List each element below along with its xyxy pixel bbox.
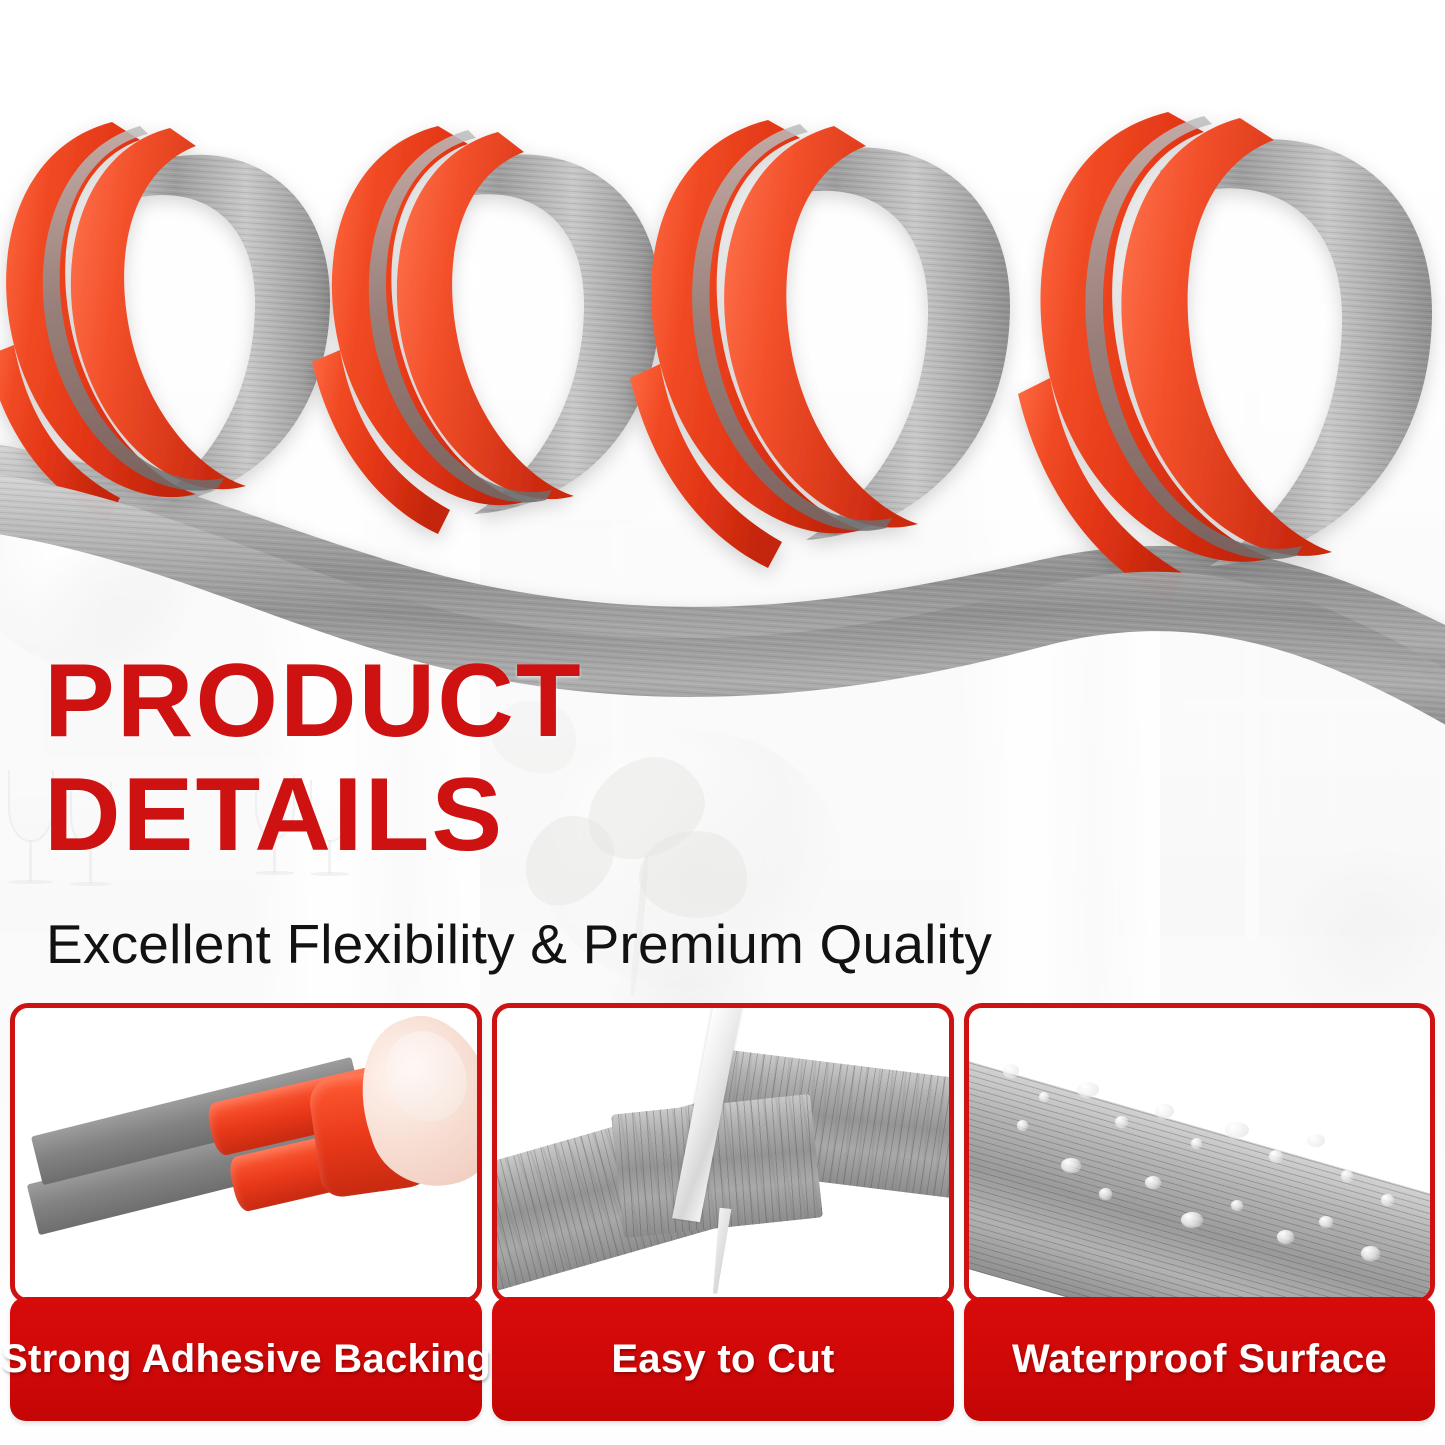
- water-droplet: [1361, 1246, 1380, 1260]
- water-droplet: [1115, 1116, 1128, 1127]
- feature-caption-label-3: Waterproof Surface: [1012, 1337, 1387, 1382]
- water-droplet: [1155, 1104, 1174, 1118]
- page-subtitle: Excellent Flexibility & Premium Quality: [46, 912, 992, 976]
- weatherstrip-diagonal: [969, 1044, 1430, 1298]
- page-title-line-1: PRODUCT: [44, 652, 1217, 752]
- water-droplet: [1099, 1188, 1112, 1199]
- water-droplet: [1277, 1230, 1294, 1243]
- adhesive-liner-peel-photo: [15, 1008, 477, 1298]
- feature-photo-frame-1: [10, 1003, 482, 1303]
- water-droplet: [1191, 1138, 1202, 1148]
- water-droplet: [1225, 1122, 1249, 1138]
- feature-panel-waterproof-surface[interactable]: Waterproof Surface: [964, 1003, 1435, 1421]
- water-droplet: [1077, 1082, 1099, 1097]
- feature-caption-bar-1: Strong Adhesive Backing: [10, 1297, 482, 1421]
- feature-caption-label-1: Strong Adhesive Backing: [1, 1337, 491, 1382]
- water-droplet: [1381, 1194, 1394, 1205]
- water-droplet: [1307, 1134, 1325, 1147]
- page-title-line-2: DETAILS: [44, 766, 1217, 866]
- headline-block: PRODUCT DETAILS: [44, 652, 1194, 866]
- feature-photo-frame-2: [492, 1003, 954, 1303]
- water-droplet: [1319, 1216, 1333, 1227]
- water-droplet: [1145, 1176, 1161, 1188]
- water-droplet: [1017, 1120, 1028, 1130]
- water-droplet: [1181, 1212, 1203, 1227]
- water-droplet: [1003, 1064, 1019, 1077]
- feature-panel-strong-adhesive-backing[interactable]: Strong Adhesive Backing: [10, 1003, 482, 1421]
- water-droplet: [1231, 1200, 1243, 1210]
- water-droplet: [1269, 1150, 1283, 1162]
- blade-cutting-strip-photo: [497, 1008, 949, 1298]
- product-detail-poster: PRODUCT DETAILS Excellent Flexibility & …: [0, 0, 1445, 1445]
- feature-caption-bar-3: Waterproof Surface: [964, 1297, 1435, 1421]
- water-droplet: [1341, 1170, 1353, 1181]
- water-droplets-on-strip-photo: [969, 1008, 1430, 1298]
- water-droplet: [1061, 1158, 1081, 1172]
- feature-photo-frame-3: [964, 1003, 1435, 1303]
- feature-caption-bar-2: Easy to Cut: [492, 1297, 954, 1421]
- feature-caption-label-2: Easy to Cut: [611, 1337, 834, 1382]
- feature-panel-row: Strong Adhesive Backing: [0, 1003, 1445, 1421]
- water-droplet: [1039, 1092, 1049, 1101]
- feature-panel-easy-to-cut[interactable]: Easy to Cut: [492, 1003, 954, 1421]
